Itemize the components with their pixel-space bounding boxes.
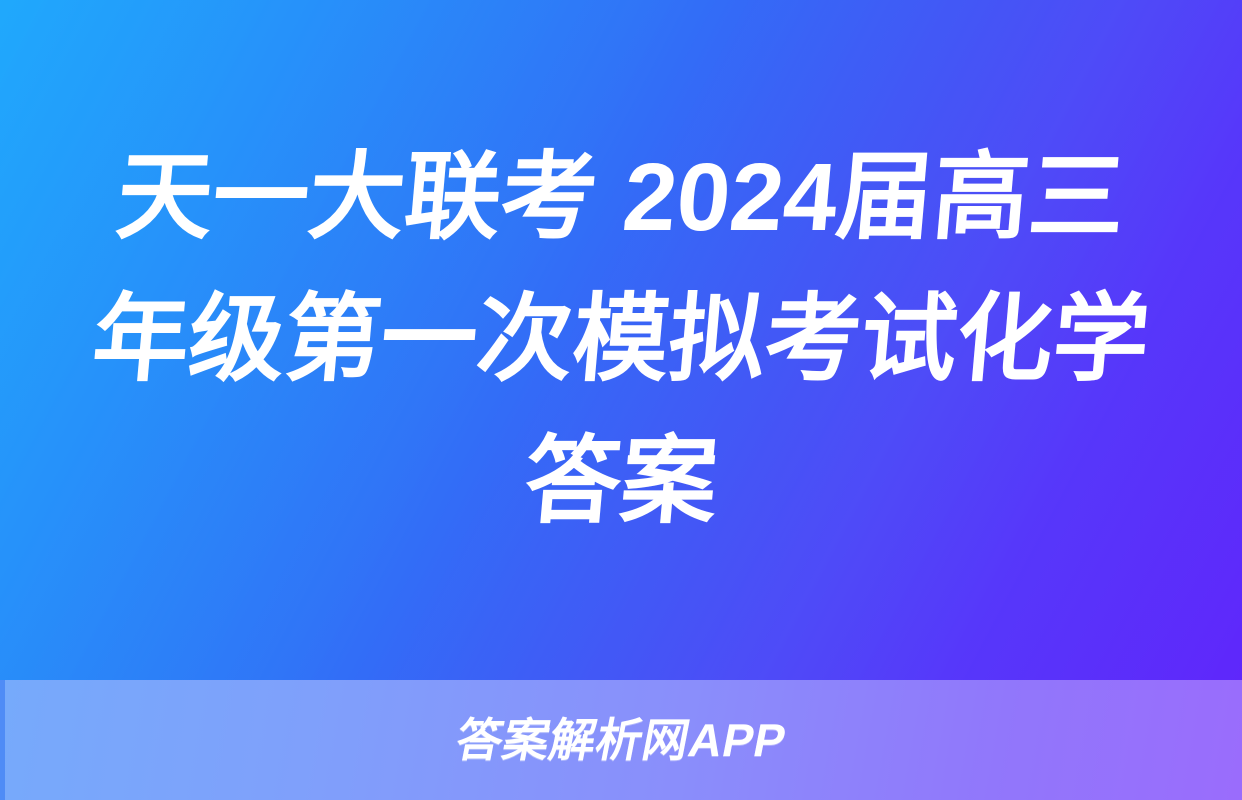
poster-card: 天一大联考 2024届高三 年级第一次模拟考试化学 答案 答案解析网APP <box>0 0 1242 800</box>
page-title-line-3: 答案 <box>46 411 1196 553</box>
page-title: 天一大联考 2024届高三 年级第一次模拟考试化学 答案 <box>0 0 1242 680</box>
page-title-line-1: 天一大联考 2024届高三 <box>46 127 1196 269</box>
page-title-line-2: 年级第一次模拟考试化学 <box>46 269 1196 411</box>
footer-watermark: 答案解析网APP <box>0 680 1242 800</box>
footer-watermark-label: 答案解析网APP <box>452 717 790 763</box>
